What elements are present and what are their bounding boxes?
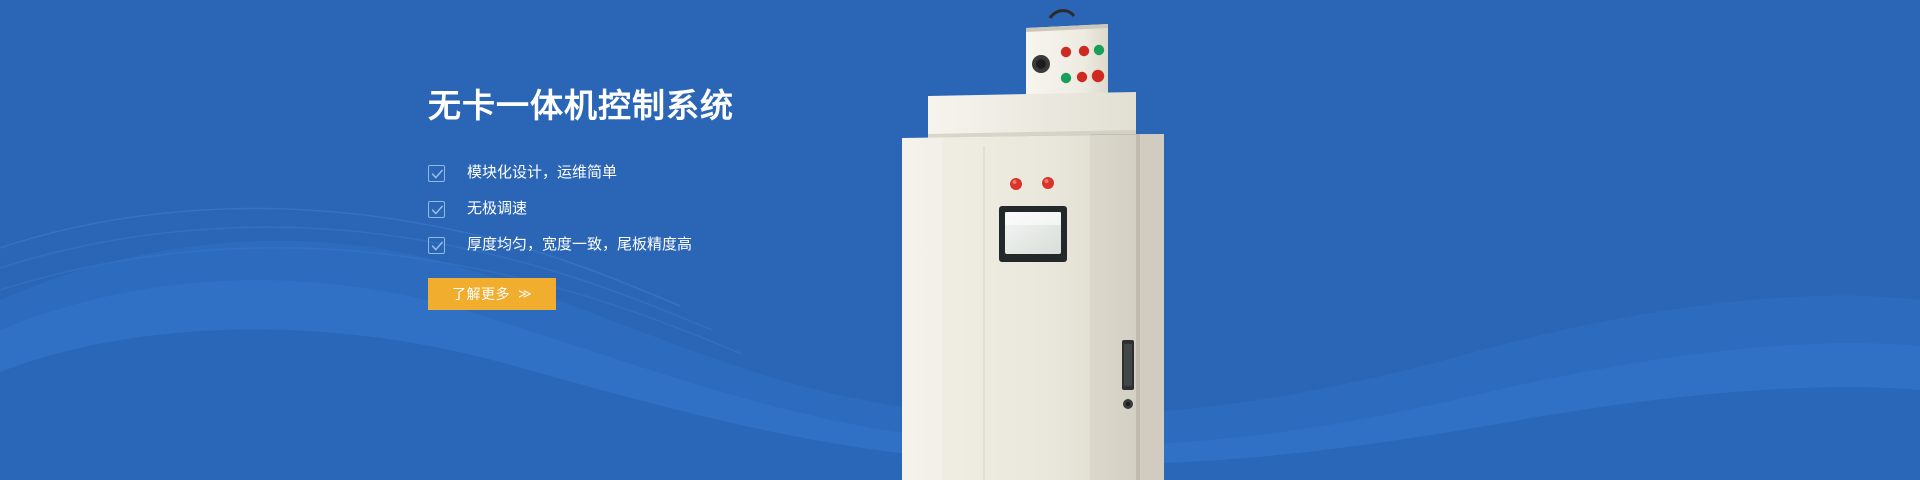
top-control-box [1026, 11, 1108, 96]
feature-label: 无极调速 [467, 198, 527, 220]
hero-banner: 无卡一体机控制系统 模块化设计，运维简单 无极调速 [0, 0, 1920, 480]
list-item: 无极调速 [428, 198, 898, 220]
control-cabinet-photo [900, 0, 1200, 480]
checkbox-check-icon [428, 165, 445, 182]
list-item: 模块化设计，运维简单 [428, 162, 898, 184]
hero-content: 无卡一体机控制系统 模块化设计，运维简单 无极调速 [428, 88, 898, 310]
checkbox-check-icon [428, 201, 445, 218]
hmi-touchscreen[interactable] [999, 206, 1067, 262]
chevron-right-icon: ≫ [518, 286, 532, 302]
feature-list: 模块化设计，运维简单 无极调速 厚度均匀，宽度一致，尾板精度高 [428, 162, 898, 256]
page-title: 无卡一体机控制系统 [428, 88, 898, 124]
feature-label: 厚度均匀，宽度一致，尾板精度高 [467, 234, 692, 256]
list-item: 厚度均匀，宽度一致，尾板精度高 [428, 234, 898, 256]
learn-more-button[interactable]: 了解更多 ≫ [428, 278, 556, 310]
learn-more-label: 了解更多 [452, 284, 510, 304]
cta-wrapper: 了解更多 ≫ [428, 278, 898, 310]
checkbox-check-icon [428, 237, 445, 254]
feature-label: 模块化设计，运维简单 [467, 162, 617, 184]
